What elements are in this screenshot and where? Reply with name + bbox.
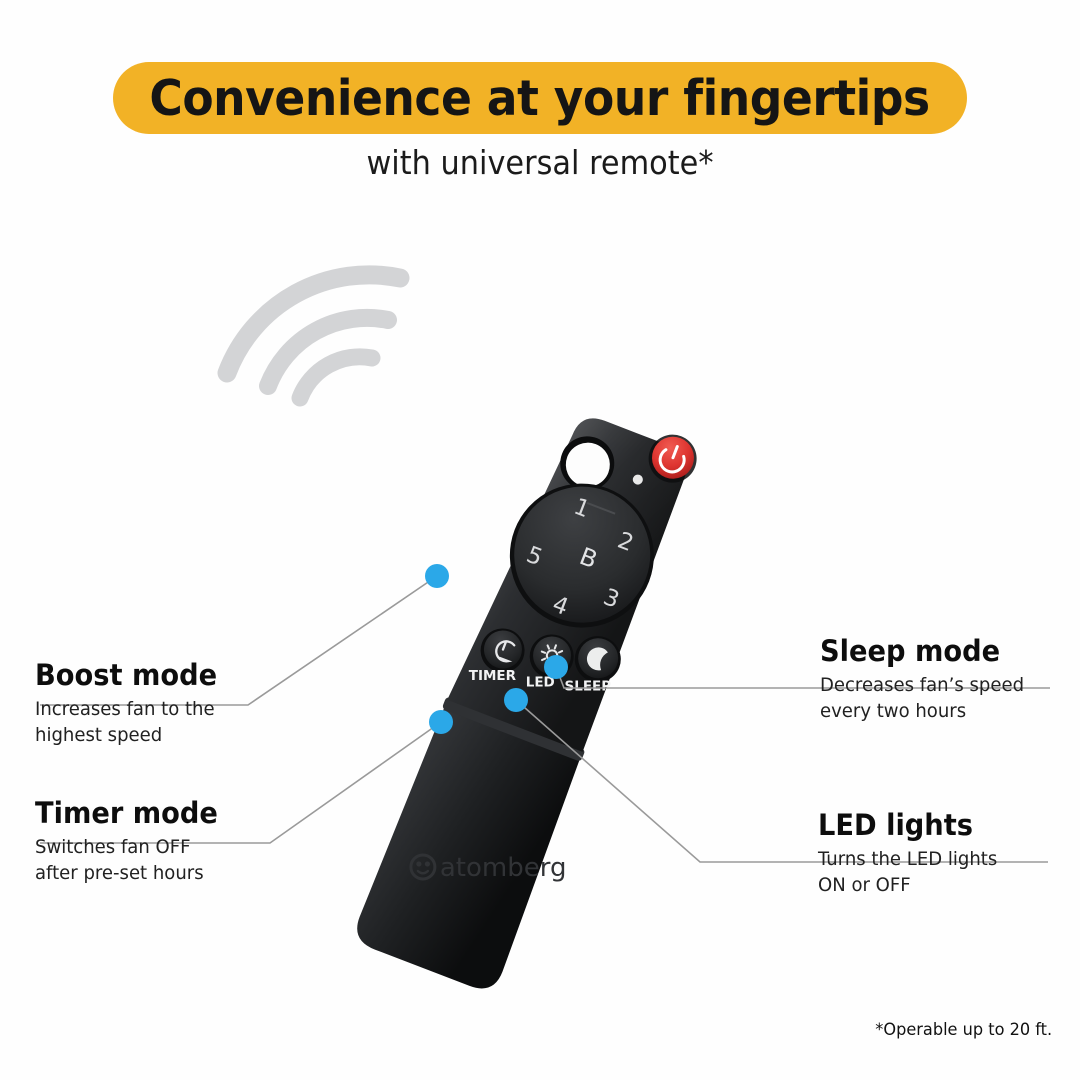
- infographic-canvas: Convenience at your fingertips with univ…: [0, 0, 1080, 1080]
- brand-name: atomberg: [440, 853, 567, 883]
- callout-timer-desc: Switches fan OFF after pre-set hours: [35, 835, 220, 885]
- callout-timer-desc-line2: after pre-set hours: [35, 861, 220, 886]
- callout-sleep: Sleep mode Decreases fan’s speed every t…: [820, 636, 1035, 724]
- callout-led-desc-line2: ON or OFF: [818, 873, 997, 898]
- callout-boost-desc: Increases fan to the highest speed: [35, 697, 219, 747]
- footnote: *Operable up to 20 ft.: [875, 1020, 1052, 1040]
- remote-body: 1 2 3 4 5 B: [351, 390, 731, 1005]
- device-label-sleep: SLEEP: [565, 679, 612, 695]
- device-label-led: LED: [526, 674, 555, 690]
- callout-timer-desc-line1: Switches fan OFF: [35, 835, 220, 860]
- device-label-timer: TIMER: [469, 668, 517, 684]
- callout-sleep-desc-line2: every two hours: [820, 699, 1024, 724]
- callout-boost-desc-line1: Increases fan to the: [35, 697, 219, 722]
- callout-timer: Timer mode Switches fan OFF after pre-se…: [35, 798, 230, 886]
- callout-led-title: LED lights: [818, 810, 995, 840]
- callout-boost-title: Boost mode: [35, 660, 217, 690]
- callout-sleep-desc: Decreases fan’s speed every two hours: [820, 673, 1024, 723]
- callout-boost: Boost mode Increases fan to the highest …: [35, 660, 229, 748]
- callout-led-desc-line1: Turns the LED lights: [818, 847, 997, 872]
- callout-led: LED lights Turns the LED lights ON or OF…: [818, 810, 1007, 898]
- callout-sleep-desc-line1: Decreases fan’s speed: [820, 673, 1024, 698]
- signal-waves-icon: [227, 275, 400, 398]
- remote-illustration: 1 2 3 4 5 B: [0, 0, 1080, 1080]
- callout-sleep-title: Sleep mode: [820, 636, 1022, 666]
- callout-led-desc: Turns the LED lights ON or OFF: [818, 847, 997, 897]
- callout-boost-desc-line2: highest speed: [35, 723, 219, 748]
- callout-timer-title: Timer mode: [35, 798, 218, 828]
